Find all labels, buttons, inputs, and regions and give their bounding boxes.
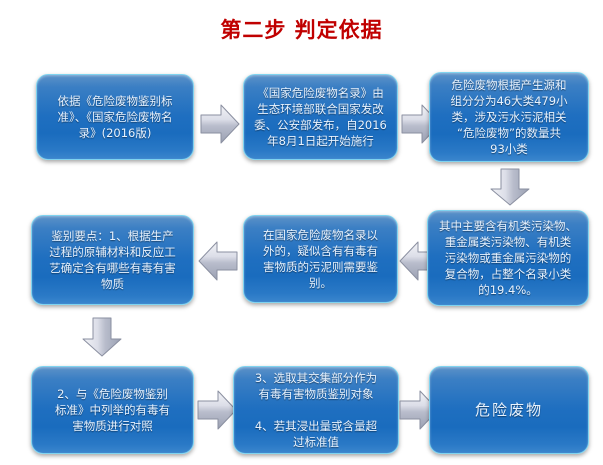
node-basis-standards: 依据《危险废物鉴别标 准》、《国家危险废物名 录》(2016版) bbox=[36, 74, 194, 160]
node-result-hazardous-waste: 危险废物 bbox=[429, 366, 589, 454]
page-title: 第二步 判定依据 bbox=[0, 16, 603, 44]
node-catalog-issuance-label: 《国家危险废物名录》由 生态环境部联合国家发改 委、公安部发布，自2016 年8… bbox=[252, 85, 389, 149]
arrow-down-1 bbox=[486, 167, 534, 207]
node-pollutant-composition-label: 其中主要含有机类污染物、 重金属类污染物、有机类 污染物或重金属污染物的 复合物… bbox=[436, 218, 580, 298]
node-key-point-2-label: 2、与《危险废物鉴别 标准》中列举的有毒有 害物质进行对照 bbox=[40, 386, 185, 434]
node-pollutant-composition: 其中主要含有机类污染物、 重金属类污染物、有机类 污染物或重金属污染物的 复合物… bbox=[427, 210, 589, 306]
node-category-counts: 危险废物根据产生源和 组分分为46大类479小 类，涉及污水污泥相关 “危险废物… bbox=[429, 72, 589, 162]
node-catalog-issuance: 《国家危险废物名录》由 生态环境部联合国家发改 委、公安部发布，自2016 年8… bbox=[243, 74, 398, 160]
node-key-point-2: 2、与《危险废物鉴别 标准》中列举的有毒有 害物质进行对照 bbox=[31, 366, 194, 454]
node-category-counts-label: 危险废物根据产生源和 组分分为46大类479小 类，涉及污水污泥相关 “危险废物… bbox=[438, 77, 580, 157]
arrow-down-2 bbox=[78, 316, 126, 358]
node-result-hazardous-waste-label: 危险废物 bbox=[438, 400, 580, 420]
flowchart-canvas: 第二步 判定依据 依据《危险废物鉴别标 准》、《国家危险废物名 录》(2016版… bbox=[0, 0, 603, 465]
arrow-right-3 bbox=[196, 386, 238, 434]
arrow-left-2 bbox=[197, 237, 239, 285]
node-key-point-3-4-label: 3、选取其交集部分作为 有毒有害物质鉴别对象 4、若其浸出量或含量超 过标准值 bbox=[242, 370, 390, 450]
node-outside-catalog-identify: 在国家危险废物名录以 外的，疑似含有有毒有 害物质的污泥则需要鉴 别。 bbox=[243, 215, 398, 303]
node-key-point-3-4: 3、选取其交集部分作为 有毒有害物质鉴别对象 4、若其浸出量或含量超 过标准值 bbox=[233, 366, 399, 454]
arrow-right-1 bbox=[199, 100, 241, 148]
node-key-point-1: 鉴别要点：1、根据生产 过程的原辅材料和反应工 艺确定含有哪些有毒有害 物质 bbox=[31, 215, 194, 305]
node-basis-standards-label: 依据《危险废物鉴别标 准》、《国家危险废物名 录》(2016版) bbox=[45, 93, 185, 141]
node-outside-catalog-identify-label: 在国家危险废物名录以 外的，疑似含有有毒有 害物质的污泥则需要鉴 别。 bbox=[252, 227, 389, 291]
node-key-point-1-label: 鉴别要点：1、根据生产 过程的原辅材料和反应工 艺确定含有哪些有毒有害 物质 bbox=[40, 228, 185, 292]
